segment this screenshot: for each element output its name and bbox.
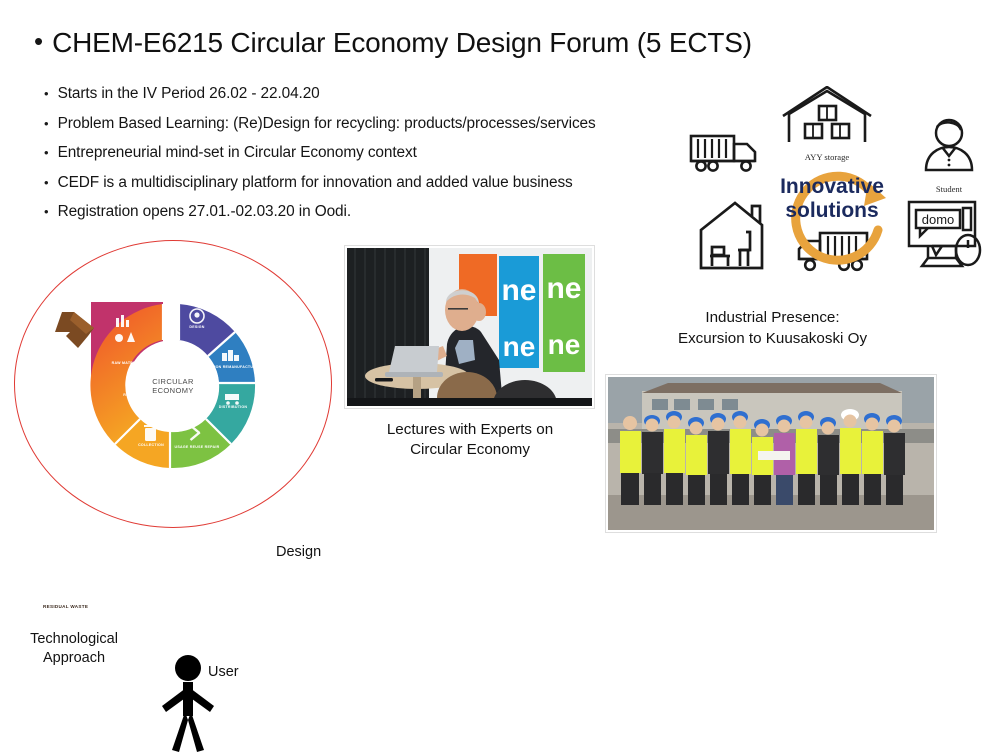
- student-icon-wrapper: Student: [918, 116, 980, 194]
- innovative-solutions-headline: Innovative solutions: [756, 175, 908, 224]
- list-item: • Registration opens 27.01.-02.03.20 in …: [44, 202, 744, 221]
- industrial-caption-line1: Industrial Presence:: [620, 308, 925, 329]
- list-item: • Problem Based Learning: (Re)Design for…: [44, 114, 744, 133]
- list-item-label: Starts in the IV Period 26.02 - 22.04.20: [58, 84, 320, 103]
- lecture-caption-line1: Lectures with Experts on: [344, 420, 596, 440]
- industrial-caption-line2: Excursion to Kuusakoski Oy: [620, 329, 925, 350]
- bullet-dot-icon: •: [44, 143, 49, 162]
- monitor-domo-icon-wrapper: domo: [906, 198, 986, 275]
- lecture-photo: ne ne ne ne: [345, 246, 594, 408]
- poster-logo-blue-2: ne: [503, 331, 536, 362]
- student-caption: Student: [918, 184, 980, 194]
- student-icon: [918, 116, 980, 178]
- list-item-label: Entrepreneurial mind-set in Circular Eco…: [58, 143, 417, 162]
- list-item-label: Registration opens 27.01.-02.03.20 in Oo…: [58, 202, 351, 221]
- title-text: CHEM-E6215 Circular Economy Design Forum…: [52, 28, 752, 57]
- monitor-screen-text: domo: [922, 212, 955, 227]
- truck-icon-wrapper: [688, 130, 762, 181]
- tech-label-line2: Approach: [14, 649, 134, 668]
- residual-waste-label: RESIDUAL WASTE: [43, 604, 88, 609]
- bullet-list: • Starts in the IV Period 26.02 - 22.04.…: [44, 84, 744, 232]
- lecture-caption-line2: Circular Economy: [344, 440, 596, 460]
- storage-house-icon: [777, 86, 877, 146]
- tech-label-line1: Technological: [14, 630, 134, 649]
- list-item: • CEDF is a multidisciplinary platform f…: [44, 173, 744, 192]
- lecture-photo-caption: Lectures with Experts on Circular Econom…: [344, 420, 596, 460]
- truck-icon: [688, 130, 762, 176]
- list-item: • Starts in the IV Period 26.02 - 22.04.…: [44, 84, 744, 103]
- storage-house-caption: AYY storage: [777, 152, 877, 162]
- residual-waste-arrow-icon: [55, 312, 94, 348]
- lecture-photo-content: ne ne ne ne: [347, 248, 592, 406]
- title-bullet-icon: •: [34, 28, 43, 54]
- excursion-photo-content: [608, 377, 934, 530]
- poster-logo-blue: ne: [501, 274, 536, 307]
- excursion-group-photo: [606, 375, 936, 532]
- page-title: • CHEM-E6215 Circular Economy Design For…: [34, 28, 752, 57]
- bullet-dot-icon: •: [44, 114, 49, 133]
- bullet-dot-icon: •: [44, 202, 49, 221]
- industrial-caption: Industrial Presence: Excursion to Kuusak…: [620, 308, 925, 349]
- bullet-dot-icon: •: [44, 173, 49, 192]
- segment-label-distribution: DISTRIBUTION: [219, 405, 248, 409]
- bullet-dot-icon: •: [44, 84, 49, 103]
- poster-logo-green: ne: [546, 272, 581, 305]
- segment-label-design: DESIGN: [189, 325, 204, 329]
- hub-label-line2: ECONOMY: [152, 386, 194, 395]
- segment-label-usage: USAGE REUSE REPAIR: [175, 445, 220, 449]
- circular-economy-diagram: CIRCULAR ECONOMY RAW MATERIAL RECYCLING …: [8, 236, 338, 532]
- monitor-domo-icon: domo: [906, 198, 986, 270]
- user-stick-figure-icon: [156, 654, 220, 754]
- circular-economy-wheel: CIRCULAR ECONOMY RAW MATERIAL RECYCLING …: [8, 236, 338, 532]
- hub-label-line1: CIRCULAR: [152, 377, 194, 386]
- list-item-label: Problem Based Learning: (Re)Design for r…: [58, 114, 596, 133]
- list-item: • Entrepreneurial mind-set in Circular E…: [44, 143, 744, 162]
- segment-label-production: PRODUCTION REMANUFACTURING: [195, 365, 263, 369]
- diagram-label-technological-approach: Technological Approach: [14, 630, 134, 668]
- storage-house-icon-wrapper: AYY storage: [777, 86, 877, 162]
- innovative-solutions-cluster: Innovative solutions: [684, 86, 984, 304]
- segment-label-collection: COLLECTION: [138, 443, 164, 447]
- headline-line1: Innovative: [756, 175, 908, 199]
- segment-label-raw-material: RAW MATERIAL: [112, 361, 143, 365]
- diagram-label-design: Design: [276, 544, 321, 560]
- poster-logo-green-2: ne: [548, 329, 581, 360]
- list-item-label: CEDF is a multidisciplinary platform for…: [58, 173, 573, 192]
- headline-line2: solutions: [756, 199, 908, 223]
